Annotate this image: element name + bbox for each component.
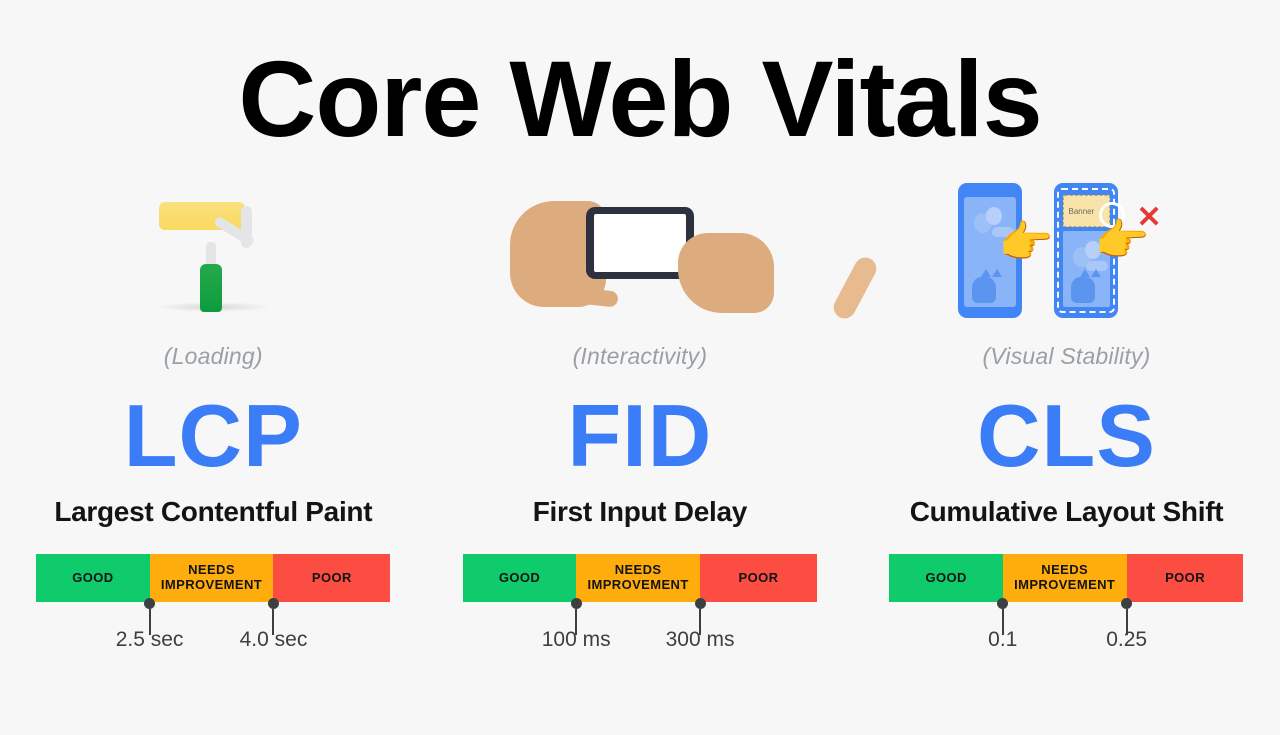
cat-silhouette	[972, 277, 996, 303]
metric-category-fid: (Interactivity)	[573, 343, 708, 370]
threshold-label-2: 300 ms	[666, 628, 735, 652]
metric-category-cls: (Visual Stability)	[982, 343, 1150, 370]
paint-roller-icon	[153, 180, 273, 320]
left-hand-finger-bottom	[567, 286, 618, 307]
pin-dot	[571, 598, 582, 609]
segment-poor: POOR	[273, 554, 390, 602]
metric-acronym-lcp: LCP	[124, 392, 303, 480]
threshold-bar-fid: GOOD NEEDS IMPROVEMENT POOR 100 ms 300 m…	[463, 554, 817, 664]
segment-poor: POOR	[700, 554, 817, 602]
metrics-columns: (Loading) LCP Largest Contentful Paint G…	[0, 175, 1280, 715]
threshold-bar-lcp: GOOD NEEDS IMPROVEMENT POOR 2.5 sec 4.0 …	[36, 554, 390, 664]
metric-name-fid: First Input Delay	[533, 496, 747, 528]
threshold-bar-segments: GOOD NEEDS IMPROVEMENT POOR	[889, 554, 1243, 602]
segment-good: GOOD	[36, 554, 149, 602]
pin-dot	[997, 598, 1008, 609]
layout-shift-phones-icon: Banner 👉 👉 ✕	[956, 175, 1176, 325]
lcp-icon-area	[0, 175, 427, 325]
threshold-label-1: 100 ms	[542, 628, 611, 652]
metric-acronym-fid: FID	[568, 392, 713, 480]
pointing-hand-icon-left: 👉	[998, 221, 1053, 265]
metric-name-lcp: Largest Contentful Paint	[54, 496, 372, 528]
fid-icon-area	[427, 175, 854, 325]
segment-poor: POOR	[1127, 554, 1244, 602]
pin-dot	[1121, 598, 1132, 609]
threshold-label-1: 0.1	[988, 628, 1017, 652]
pin-dot	[695, 598, 706, 609]
threshold-label-2: 0.25	[1106, 628, 1147, 652]
segment-good: GOOD	[889, 554, 1002, 602]
threshold-label-1: 2.5 sec	[116, 628, 184, 652]
hands-tapping-phone-icon	[500, 185, 780, 315]
page-title: Core Web Vitals	[0, 40, 1280, 159]
segment-needs-improvement: NEEDS IMPROVEMENT	[1003, 554, 1127, 602]
metric-card-lcp: (Loading) LCP Largest Contentful Paint G…	[0, 175, 427, 715]
cat-ear-left	[981, 269, 991, 277]
cat-ear-left	[1080, 269, 1090, 277]
cat-ear-right	[992, 269, 1002, 277]
segment-needs-improvement: NEEDS IMPROVEMENT	[150, 554, 274, 602]
threshold-bar-cls: GOOD NEEDS IMPROVEMENT POOR 0.1 0.25	[889, 554, 1243, 664]
banner-label: Banner	[1068, 207, 1094, 216]
segment-good: GOOD	[463, 554, 576, 602]
segment-needs-improvement: NEEDS IMPROVEMENT	[576, 554, 700, 602]
metric-acronym-cls: CLS	[977, 392, 1156, 480]
cls-icon-area: Banner 👉 👉 ✕	[853, 175, 1280, 325]
metric-name-cls: Cumulative Layout Shift	[910, 496, 1224, 528]
metric-card-fid: (Interactivity) FID First Input Delay GO…	[427, 175, 854, 715]
error-cross-icon: ✕	[1136, 203, 1161, 233]
cat-silhouette	[1071, 277, 1095, 303]
right-hand	[678, 233, 774, 313]
threshold-bar-segments: GOOD NEEDS IMPROVEMENT POOR	[36, 554, 390, 602]
pin-dot	[144, 598, 155, 609]
metric-card-cls: Banner 👉 👉 ✕	[853, 175, 1280, 715]
roller-grip	[200, 264, 222, 312]
metric-category-lcp: (Loading)	[164, 343, 263, 370]
threshold-bar-segments: GOOD NEEDS IMPROVEMENT POOR	[463, 554, 817, 602]
phone-screen	[594, 214, 686, 272]
cat-ear-right	[1091, 269, 1101, 277]
threshold-label-2: 4.0 sec	[240, 628, 308, 652]
pin-dot	[268, 598, 279, 609]
